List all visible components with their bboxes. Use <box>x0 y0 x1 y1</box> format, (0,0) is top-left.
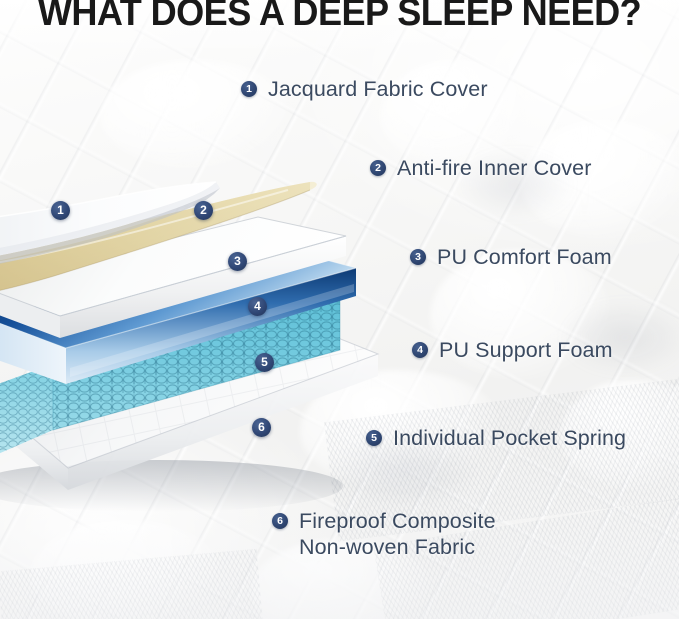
legend-badge-3: 3 <box>410 249 426 265</box>
legend-badge-6: 6 <box>272 513 288 529</box>
legend-label-5: Individual Pocket Spring <box>393 425 626 451</box>
illustration-pin-2: 2 <box>194 201 213 220</box>
legend-item-6: 6 Fireproof Composite Non-woven Fabric <box>272 508 496 560</box>
legend-item-4: 4 PU Support Foam <box>412 337 613 363</box>
legend-item-1: 1 Jacquard Fabric Cover <box>241 76 488 102</box>
legend-label-1: Jacquard Fabric Cover <box>268 76 488 102</box>
page-title: WHAT DOES A DEEP SLEEP NEED? <box>17 0 662 35</box>
mattress-cutaway-illustration: 1 2 3 4 5 6 <box>0 168 388 518</box>
legend-item-2: 2 Anti-fire Inner Cover <box>370 155 591 181</box>
illustration-pin-1: 1 <box>51 201 70 220</box>
legend-label-6: Fireproof Composite Non-woven Fabric <box>299 508 496 560</box>
legend-badge-2: 2 <box>370 160 386 176</box>
legend-badge-5: 5 <box>366 430 382 446</box>
legend-badge-4: 4 <box>412 342 428 358</box>
legend-item-3: 3 PU Comfort Foam <box>410 244 612 270</box>
legend-label-2: Anti-fire Inner Cover <box>397 155 591 181</box>
legend-badge-1: 1 <box>241 81 257 97</box>
illustration-pin-5: 5 <box>255 353 274 372</box>
legend-label-4: PU Support Foam <box>439 337 613 363</box>
legend-item-5: 5 Individual Pocket Spring <box>366 425 626 451</box>
illustration-pin-3: 3 <box>228 252 247 271</box>
legend-label-3: PU Comfort Foam <box>437 244 612 270</box>
illustration-pin-4: 4 <box>248 297 267 316</box>
illustration-pin-6: 6 <box>252 418 271 437</box>
